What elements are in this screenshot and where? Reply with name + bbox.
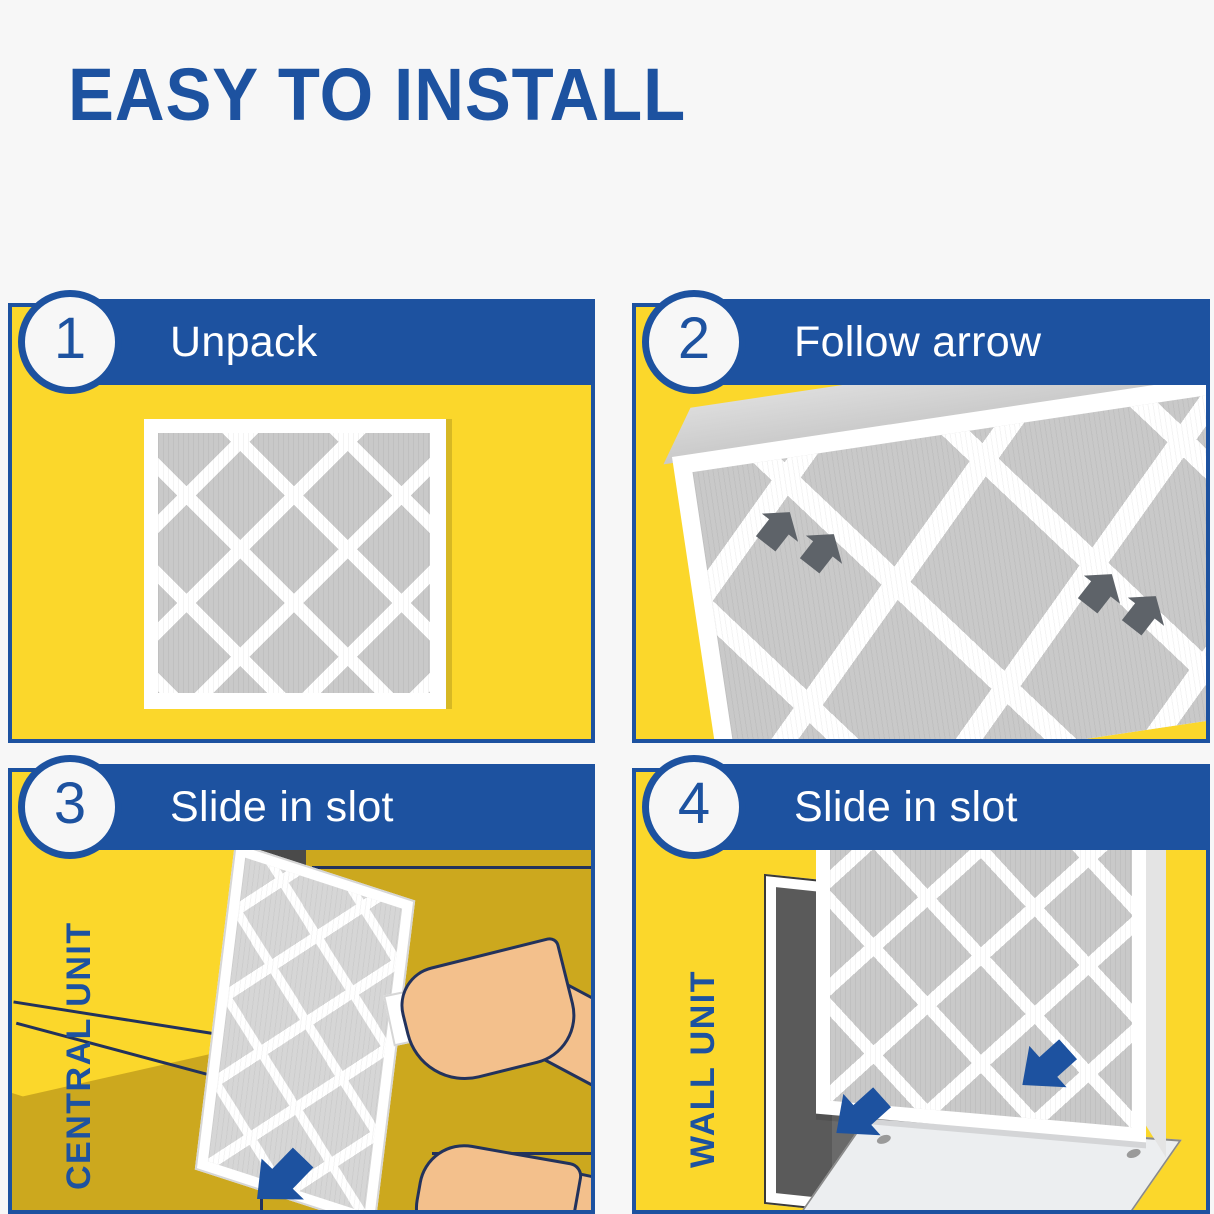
air-filter-tilted-graphic <box>672 374 1210 743</box>
step-4-number-badge: 4 <box>642 755 746 859</box>
step-4-side-label: WALL UNIT <box>684 970 723 1168</box>
filter-mesh <box>158 433 430 693</box>
air-filter-graphic <box>195 842 415 1214</box>
air-filter-flat-graphic <box>144 419 446 709</box>
filter-pleat-texture <box>692 395 1210 743</box>
step-2-header: Follow arrow <box>716 299 1210 385</box>
screw-icon <box>1124 1149 1143 1159</box>
step-1-label: Unpack <box>170 318 318 367</box>
unit-panel-line <box>312 866 595 869</box>
step-3-side-label: CENTRAL UNIT <box>60 921 99 1190</box>
step-3-label: Slide in slot <box>170 783 394 832</box>
step-3-header: Slide in slot <box>92 764 595 850</box>
filter-side-edge <box>1144 802 1166 1157</box>
screw-icon <box>875 1134 894 1144</box>
step-3-number-badge: 3 <box>18 755 122 859</box>
filter-mesh <box>692 395 1210 743</box>
step-2-number: 2 <box>678 310 710 368</box>
filter-pleat-texture <box>830 809 1132 1127</box>
page-title: EASY TO INSTALL <box>68 58 686 132</box>
step-1-number-badge: 1 <box>18 290 122 394</box>
step-2-number-badge: 2 <box>642 290 746 394</box>
step-1-number: 1 <box>54 310 86 368</box>
step-4-number: 4 <box>678 775 710 833</box>
step-4-header: Slide in slot <box>716 764 1210 850</box>
step-4-label: Slide in slot <box>794 783 1018 832</box>
step-2-label: Follow arrow <box>794 318 1041 367</box>
filter-mesh <box>830 809 1132 1127</box>
filter-pleat-texture <box>158 433 430 693</box>
step-3-number: 3 <box>54 775 86 833</box>
step-1-header: Unpack <box>92 299 595 385</box>
